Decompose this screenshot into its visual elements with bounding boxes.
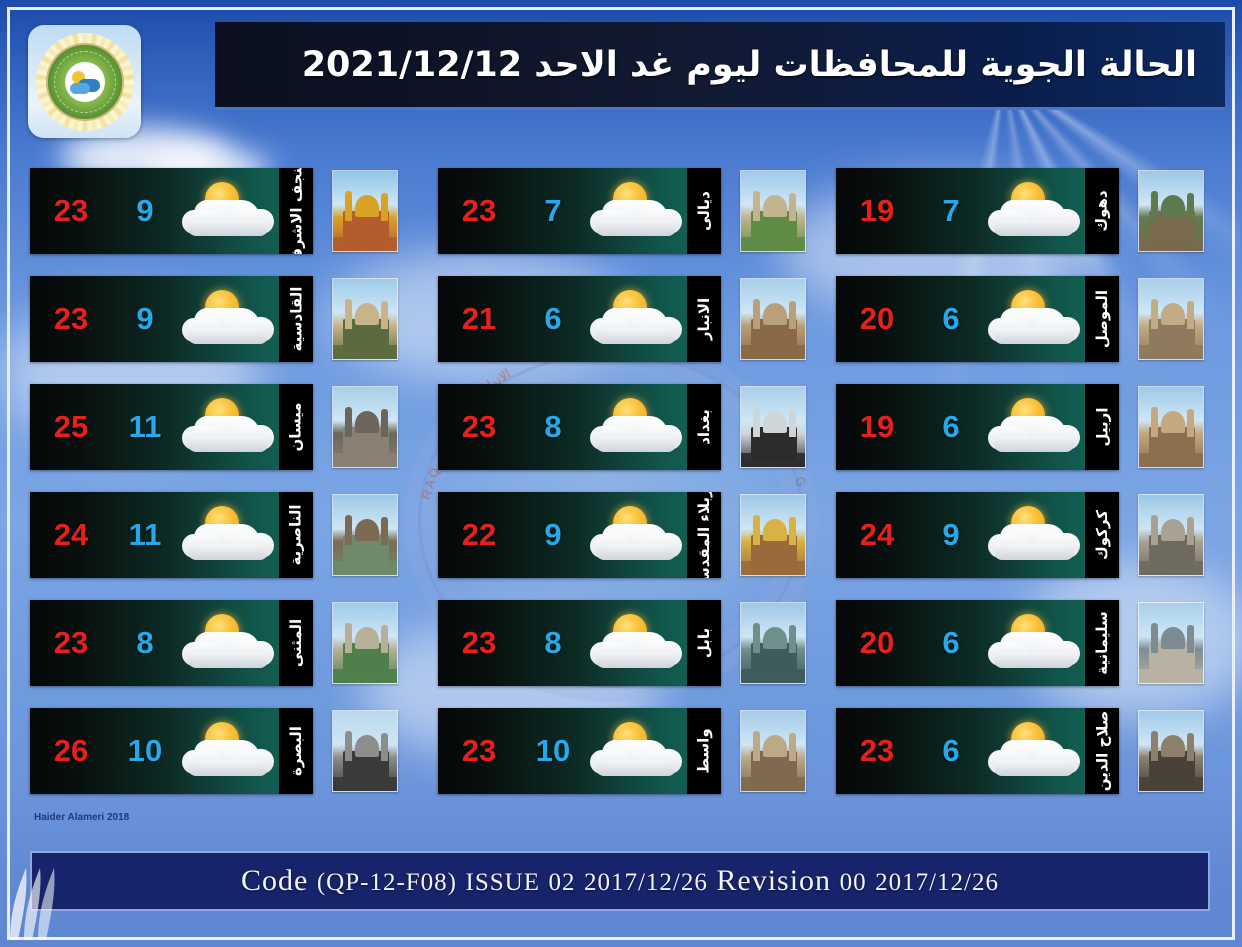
- landmark-tower-shape: [1151, 515, 1158, 545]
- partly-cloudy-icon: [586, 288, 691, 350]
- city-label-strip: اربيل: [1085, 384, 1119, 470]
- forecast-row: 238بابل: [438, 600, 828, 686]
- forecast-card[interactable]: 238: [438, 384, 721, 470]
- city-name: القادسية: [287, 287, 305, 352]
- partly-cloudy-icon: [178, 612, 283, 674]
- temperature-max: 24: [30, 517, 112, 553]
- thumbnail-ground: [333, 561, 397, 575]
- partly-cloudy-icon: [586, 504, 691, 566]
- landmark-tower-shape: [753, 299, 760, 329]
- temperature-min: 9: [112, 193, 178, 229]
- cloud-icon: [188, 760, 268, 776]
- page-title: الحالة الجوية للمحافظات ليوم غد الاحد 20…: [302, 45, 1197, 85]
- city-name: اربيل: [1093, 408, 1111, 447]
- thumbnail-ground: [741, 561, 805, 575]
- city-label-strip: النجف الاشرف: [279, 168, 313, 254]
- city-name: بابل: [695, 628, 713, 658]
- temperature-min: 6: [918, 625, 984, 661]
- thumbnail-ground: [333, 669, 397, 683]
- partly-cloudy-icon: [984, 612, 1089, 674]
- landmark-dome-shape: [355, 519, 379, 541]
- partly-cloudy-icon: [984, 180, 1089, 242]
- city-thumbnail: [740, 386, 806, 468]
- temperature-min: 7: [918, 193, 984, 229]
- landmark-dome-shape: [355, 411, 379, 433]
- landmark-tower-shape: [753, 623, 760, 653]
- temperature-max: 23: [438, 733, 520, 769]
- city-label-strip: سليمانية: [1085, 600, 1119, 686]
- landmark-tower-shape: [381, 625, 388, 653]
- cloud-icon: [188, 328, 268, 344]
- city-label-strip: المثنى: [279, 600, 313, 686]
- landmark-tower-shape: [789, 193, 796, 221]
- forecast-card[interactable]: 196: [836, 384, 1119, 470]
- temperature-max: 19: [836, 193, 918, 229]
- partly-cloudy-icon: [984, 396, 1089, 458]
- temperature-min: 8: [520, 625, 586, 661]
- landmark-tower-shape: [345, 515, 352, 545]
- partly-cloudy-icon: [586, 720, 691, 782]
- city-thumbnail: [740, 278, 806, 360]
- landmark-dome-shape: [763, 735, 787, 757]
- footer-bar: Code (QP-12-F08) ISSUE 02 2017/12/26 Rev…: [30, 851, 1210, 911]
- temperature-max: 23: [30, 625, 112, 661]
- cloud-icon: [596, 544, 676, 560]
- logo-ring: [46, 43, 124, 121]
- partly-cloudy-icon: [586, 612, 691, 674]
- forecast-card[interactable]: 249: [836, 492, 1119, 578]
- landmark-dome-shape: [1161, 519, 1185, 541]
- temperature-min: 10: [112, 733, 178, 769]
- thumbnail-ground: [1139, 561, 1203, 575]
- landmark-tower-shape: [345, 191, 352, 221]
- cloud-icon: [188, 220, 268, 236]
- forecast-column-3: 197دهوك206الموصل196اربيل249كركوك206سليما…: [836, 168, 1226, 816]
- thumbnail-ground: [741, 777, 805, 791]
- temperature-min: 6: [918, 733, 984, 769]
- landmark-dome-shape: [355, 303, 379, 325]
- footer-code-label: Code: [241, 864, 308, 897]
- city-thumbnail: [332, 278, 398, 360]
- footer-revision-date: 2017/12/26: [875, 869, 999, 896]
- landmark-dome-shape: [763, 627, 787, 649]
- temperature-min: 6: [918, 301, 984, 337]
- city-label-strip: الموصل: [1085, 276, 1119, 362]
- landmark-tower-shape: [1151, 299, 1158, 329]
- city-label-strip: بغداد: [687, 384, 721, 470]
- forecast-row: 239النجف الاشرف: [30, 168, 420, 254]
- landmark-tower-shape: [1187, 733, 1194, 761]
- logo-cloud-icon: [78, 79, 100, 92]
- forecast-card[interactable]: 238: [30, 600, 313, 686]
- forecast-card[interactable]: 239: [30, 168, 313, 254]
- thumbnail-ground: [333, 345, 397, 359]
- cloud-icon: [596, 652, 676, 668]
- landmark-tower-shape: [345, 731, 352, 761]
- temperature-min: 9: [918, 517, 984, 553]
- partly-cloudy-icon: [586, 396, 691, 458]
- landmark-tower-shape: [753, 515, 760, 545]
- temperature-max: 20: [836, 625, 918, 661]
- thumbnail-ground: [1139, 453, 1203, 467]
- temperature-max: 23: [836, 733, 918, 769]
- landmark-tower-shape: [789, 733, 796, 761]
- landmark-tower-shape: [789, 409, 796, 437]
- forecast-row: 197دهوك: [836, 168, 1226, 254]
- temperature-min: 8: [112, 625, 178, 661]
- partly-cloudy-icon: [984, 504, 1089, 566]
- forecast-row: 238بغداد: [438, 384, 828, 470]
- thumbnail-ground: [741, 237, 805, 251]
- forecast-row: 236صلاح الدين: [836, 708, 1226, 794]
- thumbnail-ground: [1139, 345, 1203, 359]
- landmark-dome-shape: [763, 411, 787, 433]
- landmark-dome-shape: [1161, 627, 1185, 649]
- weather-poster: الانواء RAQ HON B G الحالة الجوية للمحاف…: [0, 0, 1242, 947]
- temperature-min: 10: [520, 733, 586, 769]
- city-thumbnail: [332, 170, 398, 252]
- landmark-dome-shape: [355, 195, 379, 217]
- partly-cloudy-icon: [178, 396, 283, 458]
- temperature-min: 6: [520, 301, 586, 337]
- forecast-column-1: 239النجف الاشرف239القادسية2511ميسان2411ا…: [30, 168, 420, 816]
- cloud-icon: [188, 652, 268, 668]
- landmark-tower-shape: [1151, 731, 1158, 761]
- city-name: كركوك: [1093, 510, 1111, 560]
- city-name: صلاح الدين: [1093, 711, 1111, 792]
- thumbnail-ground: [333, 453, 397, 467]
- city-label-strip: ديالى: [687, 168, 721, 254]
- thumbnail-ground: [333, 237, 397, 251]
- forecast-column-2: 237ديالى216الانبار238بغداد229كربلاء المق…: [438, 168, 828, 816]
- partly-cloudy-icon: [586, 180, 691, 242]
- city-label-strip: دهوك: [1085, 168, 1119, 254]
- city-name: البصرة: [287, 726, 305, 776]
- city-name: سليمانية: [1093, 611, 1111, 675]
- forecast-card[interactable]: 206: [836, 600, 1119, 686]
- temperature-max: 21: [438, 301, 520, 337]
- city-name: المثنى: [287, 619, 305, 667]
- header-bar: الحالة الجوية للمحافظات ليوم غد الاحد 20…: [215, 22, 1225, 110]
- cloud-icon: [188, 544, 268, 560]
- landmark-tower-shape: [381, 193, 388, 221]
- city-thumbnail: [740, 494, 806, 576]
- landmark-tower-shape: [789, 625, 796, 653]
- temperature-max: 23: [30, 301, 112, 337]
- forecast-card[interactable]: 239: [30, 276, 313, 362]
- landmark-tower-shape: [381, 409, 388, 437]
- landmark-dome-shape: [763, 519, 787, 541]
- city-name: بغداد: [695, 409, 713, 445]
- forecast-row: 229كربلاء المقدسة: [438, 492, 828, 578]
- partly-cloudy-icon: [984, 288, 1089, 350]
- landmark-tower-shape: [1151, 407, 1158, 437]
- forecast-card[interactable]: 2310: [438, 708, 721, 794]
- forecast-row: 238المثنى: [30, 600, 420, 686]
- forecast-card[interactable]: 2610: [30, 708, 313, 794]
- agency-logo: [28, 25, 141, 138]
- forecast-card[interactable]: 197: [836, 168, 1119, 254]
- city-thumbnail: [1138, 494, 1204, 576]
- temperature-min: 6: [918, 409, 984, 445]
- landmark-tower-shape: [789, 517, 796, 545]
- cloud-icon: [188, 436, 268, 452]
- thumbnail-ground: [1139, 237, 1203, 251]
- thumbnail-ground: [741, 669, 805, 683]
- city-thumbnail: [1138, 710, 1204, 792]
- footer-issue-label: ISSUE: [466, 869, 540, 896]
- city-thumbnail: [740, 170, 806, 252]
- city-name: النجف الاشرف: [287, 168, 305, 254]
- landmark-dome-shape: [1161, 195, 1185, 217]
- forecast-row: 2411الناصرية: [30, 492, 420, 578]
- thumbnail-ground: [1139, 669, 1203, 683]
- forecast-row: 216الانبار: [438, 276, 828, 362]
- cloud-icon: [596, 436, 676, 452]
- footer-revision-value: 00: [840, 869, 867, 896]
- landmark-tower-shape: [381, 733, 388, 761]
- landmark-tower-shape: [1187, 409, 1194, 437]
- city-thumbnail: [1138, 170, 1204, 252]
- landmark-tower-shape: [345, 407, 352, 437]
- temperature-min: 11: [112, 409, 178, 445]
- temperature-max: 25: [30, 409, 112, 445]
- footer-issue-date: 2017/12/26: [584, 869, 708, 896]
- temperature-max: 23: [30, 193, 112, 229]
- landmark-tower-shape: [789, 301, 796, 329]
- city-thumbnail: [332, 710, 398, 792]
- forecast-row: 2310واسط: [438, 708, 828, 794]
- landmark-tower-shape: [345, 623, 352, 653]
- landmark-dome-shape: [1161, 303, 1185, 325]
- temperature-max: 23: [438, 193, 520, 229]
- sun-cloud-icon: [65, 62, 105, 102]
- city-name: واسط: [695, 728, 713, 773]
- cloud-icon: [596, 760, 676, 776]
- city-thumbnail: [1138, 602, 1204, 684]
- temperature-max: 19: [836, 409, 918, 445]
- landmark-tower-shape: [345, 299, 352, 329]
- landmark-dome-shape: [763, 195, 787, 217]
- landmark-tower-shape: [753, 191, 760, 221]
- thumbnail-ground: [741, 345, 805, 359]
- landmark-dome-shape: [355, 735, 379, 757]
- city-label-strip: كربلاء المقدسة: [687, 492, 721, 578]
- landmark-dome-shape: [1161, 411, 1185, 433]
- footer-code-value: (QP-12-F08): [317, 869, 457, 896]
- city-name: دهوك: [1093, 190, 1111, 231]
- forecast-row: 2511ميسان: [30, 384, 420, 470]
- city-thumbnail: [332, 602, 398, 684]
- temperature-max: 24: [836, 517, 918, 553]
- city-thumbnail: [1138, 386, 1204, 468]
- temperature-max: 23: [438, 409, 520, 445]
- forecast-card[interactable]: 206: [836, 276, 1119, 362]
- city-label-strip: ميسان: [279, 384, 313, 470]
- author-credit: Haider Alameri 2018: [34, 812, 129, 823]
- city-label-strip: بابل: [687, 600, 721, 686]
- thumbnail-ground: [333, 777, 397, 791]
- city-label-strip: صلاح الدين: [1085, 708, 1119, 794]
- footer-revision-label: Revision: [716, 864, 831, 897]
- city-label-strip: الانبار: [687, 276, 721, 362]
- landmark-tower-shape: [1187, 301, 1194, 329]
- partly-cloudy-icon: [178, 720, 283, 782]
- partly-cloudy-icon: [178, 180, 283, 242]
- landmark-dome-shape: [355, 627, 379, 649]
- cloud-icon: [994, 760, 1074, 776]
- forecast-row: 206سليمانية: [836, 600, 1226, 686]
- temperature-min: 9: [520, 517, 586, 553]
- cloud-icon: [596, 220, 676, 236]
- temperature-min: 7: [520, 193, 586, 229]
- thumbnail-ground: [741, 453, 805, 467]
- partly-cloudy-icon: [178, 288, 283, 350]
- landmark-tower-shape: [753, 407, 760, 437]
- footer-issue-value: 02: [548, 869, 575, 896]
- cloud-icon: [596, 328, 676, 344]
- temperature-min: 11: [112, 517, 178, 553]
- landmark-tower-shape: [1151, 191, 1158, 221]
- city-name: الموصل: [1093, 290, 1111, 348]
- city-thumbnail: [332, 494, 398, 576]
- forecast-card[interactable]: 238: [438, 600, 721, 686]
- city-thumbnail: [332, 386, 398, 468]
- city-name: كربلاء المقدسة: [695, 492, 713, 578]
- city-name: ديالى: [695, 191, 713, 231]
- temperature-max: 22: [438, 517, 520, 553]
- forecast-row: 249كركوك: [836, 492, 1226, 578]
- city-name: الانبار: [695, 298, 713, 340]
- city-label-strip: واسط: [687, 708, 721, 794]
- landmark-dome-shape: [763, 303, 787, 325]
- forecast-card[interactable]: 229: [438, 492, 721, 578]
- partly-cloudy-icon: [984, 720, 1089, 782]
- cloud-icon: [994, 652, 1074, 668]
- forecast-row: 237ديالى: [438, 168, 828, 254]
- forecast-row: 239القادسية: [30, 276, 420, 362]
- forecast-row: 196اربيل: [836, 384, 1226, 470]
- forecast-card[interactable]: 2411: [30, 492, 313, 578]
- landmark-tower-shape: [753, 731, 760, 761]
- cloud-icon: [994, 436, 1074, 452]
- city-label-strip: القادسية: [279, 276, 313, 362]
- landmark-dome-shape: [1161, 735, 1185, 757]
- logo-sun-icon: [72, 71, 85, 84]
- cloud-icon: [994, 328, 1074, 344]
- forecast-card[interactable]: 236: [836, 708, 1119, 794]
- landmark-tower-shape: [1151, 623, 1158, 653]
- landmark-tower-shape: [381, 301, 388, 329]
- logo-cloud-icon: [70, 83, 90, 94]
- forecast-card[interactable]: 216: [438, 276, 721, 362]
- temperature-max: 20: [836, 301, 918, 337]
- city-name: ميسان: [287, 402, 305, 451]
- temperature-max: 23: [438, 625, 520, 661]
- forecast-card[interactable]: 2511: [30, 384, 313, 470]
- city-thumbnail: [740, 710, 806, 792]
- temperature-min: 8: [520, 409, 586, 445]
- forecast-row: 2610البصرة: [30, 708, 420, 794]
- cloud-icon: [994, 544, 1074, 560]
- city-label-strip: الناصرية: [279, 492, 313, 578]
- forecast-row: 206الموصل: [836, 276, 1226, 362]
- thumbnail-ground: [1139, 777, 1203, 791]
- city-label-strip: البصرة: [279, 708, 313, 794]
- temperature-max: 26: [30, 733, 112, 769]
- city-label-strip: كركوك: [1085, 492, 1119, 578]
- landmark-tower-shape: [381, 517, 388, 545]
- document-control-text: Code (QP-12-F08) ISSUE 02 2017/12/26 Rev…: [241, 864, 999, 898]
- landmark-tower-shape: [1187, 517, 1194, 545]
- partly-cloudy-icon: [178, 504, 283, 566]
- landmark-tower-shape: [1187, 193, 1194, 221]
- city-thumbnail: [740, 602, 806, 684]
- forecast-grid: 239النجف الاشرف239القادسية2511ميسان2411ا…: [0, 168, 1242, 816]
- city-thumbnail: [1138, 278, 1204, 360]
- landmark-tower-shape: [1187, 625, 1194, 653]
- forecast-card[interactable]: 237: [438, 168, 721, 254]
- city-name: الناصرية: [287, 504, 305, 565]
- temperature-min: 9: [112, 301, 178, 337]
- cloud-icon: [994, 220, 1074, 236]
